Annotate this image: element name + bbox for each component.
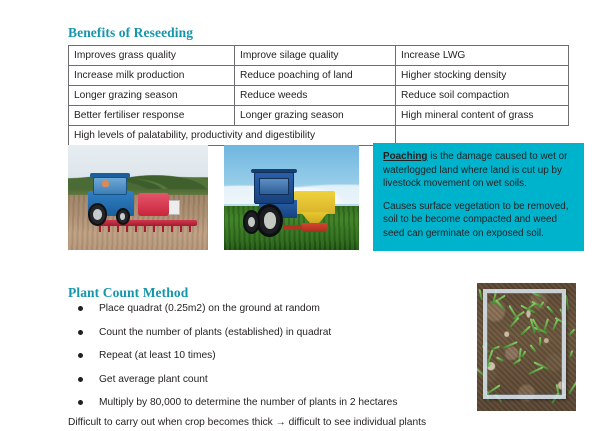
tractor-with-fertiliser-spreader-photo xyxy=(224,145,359,250)
benefits-table-body: Improves grass quality Improve silage qu… xyxy=(69,46,569,146)
tractor-cab-window xyxy=(259,178,289,196)
table-cell: Increase milk production xyxy=(69,66,235,86)
table-row: Increase milk production Reduce poaching… xyxy=(69,66,569,86)
bullet-icon xyxy=(78,400,83,405)
table-cell: Higher stocking density xyxy=(396,66,569,86)
list-item: Get average plant count xyxy=(70,373,470,386)
spreader-disc-housing xyxy=(302,223,326,232)
list-item: Repeat (at least 10 times) xyxy=(70,349,470,362)
list-item: Count the number of plants (established)… xyxy=(70,326,470,339)
table-cell: Increase LWG xyxy=(396,46,569,66)
table-row: Longer grazing season Reduce weeds Reduc… xyxy=(69,86,569,106)
yellow-fertiliser-spreader xyxy=(294,191,335,214)
table-cell: Reduce soil compaction xyxy=(396,86,569,106)
list-item-label: Multiply by 80,000 to determine the numb… xyxy=(99,397,397,408)
bullet-icon xyxy=(78,353,83,358)
list-item: Multiply by 80,000 to determine the numb… xyxy=(70,396,470,409)
poaching-paragraph-2: Causes surface vegetation to be removed,… xyxy=(383,200,574,241)
poaching-paragraph-1: Poaching is the damage caused to wet or … xyxy=(383,150,574,191)
table-cell: Reduce poaching of land xyxy=(235,66,396,86)
table-cell: Better fertiliser response xyxy=(69,106,235,126)
table-cell: Improves grass quality xyxy=(69,46,235,66)
bullet-icon xyxy=(78,306,83,311)
benefits-table: Improves grass quality Improve silage qu… xyxy=(68,45,569,146)
list-item-label: Repeat (at least 10 times) xyxy=(99,350,216,361)
seedling-blade xyxy=(568,381,576,394)
quadrat-frame xyxy=(483,289,566,399)
seedling-blade xyxy=(568,329,575,336)
seedling-blade xyxy=(478,289,482,300)
table-row: Better fertiliser response Longer grazin… xyxy=(69,106,569,126)
table-cell: High mineral content of grass xyxy=(396,106,569,126)
tractor-front-wheel xyxy=(116,208,130,225)
table-cell: Longer grazing season xyxy=(69,86,235,106)
bullet-icon xyxy=(78,330,83,335)
table-cell: Reduce weeds xyxy=(235,86,396,106)
page-title-plant-count-method: Plant Count Method xyxy=(68,285,188,301)
plant-count-note: Difficult to carry out when crop becomes… xyxy=(68,416,426,429)
table-cell: High levels of palatability, productivit… xyxy=(69,126,396,146)
tractor-rear-wheel xyxy=(88,203,108,226)
tractor-driver xyxy=(102,180,109,187)
list-item-label: Place quadrat (0.25m2) on the ground at … xyxy=(99,303,320,314)
seedling-blade xyxy=(569,350,573,357)
page-title-benefits-of-reseeding: Benefits of Reseeding xyxy=(68,25,193,41)
table-cell: Longer grazing season xyxy=(235,106,396,126)
quadrat-on-soil-photo xyxy=(477,283,576,411)
table-row: Improves grass quality Improve silage qu… xyxy=(69,46,569,66)
list-item-label: Get average plant count xyxy=(99,374,208,385)
poaching-term: Poaching xyxy=(383,151,427,162)
harrow-tines xyxy=(99,225,191,232)
list-item: Place quadrat (0.25m2) on the ground at … xyxy=(70,302,470,315)
red-seed-hopper xyxy=(138,193,169,216)
list-item-label: Count the number of plants (established)… xyxy=(99,327,331,338)
poaching-definition-callout: Poaching is the damage caused to wet or … xyxy=(373,143,584,251)
plant-count-steps-list: Place quadrat (0.25m2) on the ground at … xyxy=(70,302,470,420)
bullet-icon xyxy=(78,377,83,382)
tractor-cab xyxy=(93,177,127,196)
table-cell: Improve silage quality xyxy=(235,46,396,66)
tractor-with-reseeder-photo xyxy=(68,145,208,250)
